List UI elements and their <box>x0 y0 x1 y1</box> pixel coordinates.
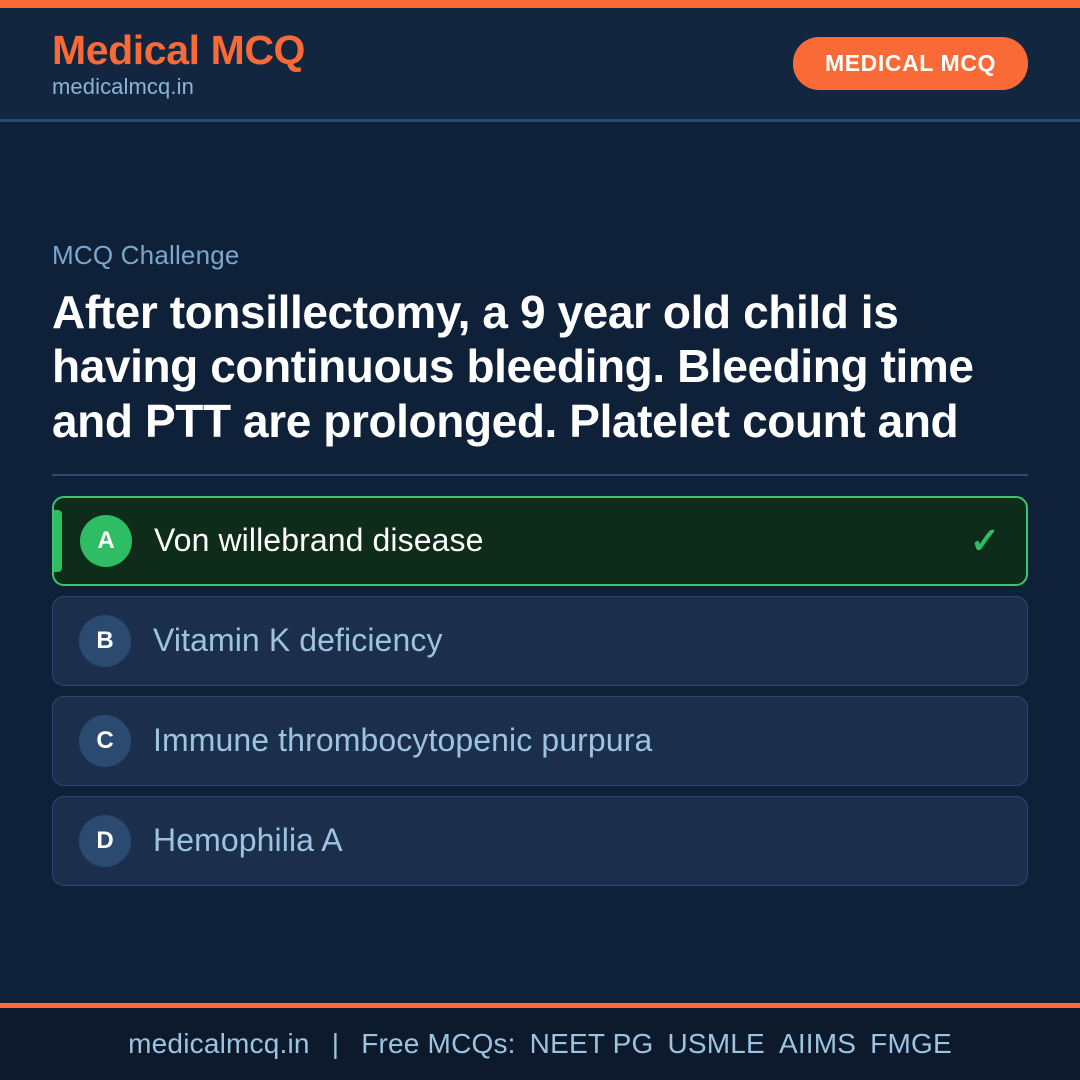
top-accent-bar <box>0 0 1080 8</box>
footer-exam-aiims: AIIMS <box>779 1028 856 1060</box>
footer: medicalmcq.in | Free MCQs: NEET PG USMLE… <box>0 1008 1080 1080</box>
footer-text: medicalmcq.in | Free MCQs: NEET PG USMLE… <box>128 1028 952 1060</box>
correct-accent-bar <box>54 510 62 572</box>
option-letter-badge-a: A <box>80 515 132 567</box>
brand-block: Medical MCQ medicalmcq.in <box>52 28 305 100</box>
question-divider <box>52 474 1028 476</box>
kicker-label: MCQ Challenge <box>52 240 1028 271</box>
option-letter-badge-b: B <box>79 615 131 667</box>
check-icon: ✓ <box>970 523 1000 559</box>
option-label-a: Von willebrand disease <box>154 523 956 558</box>
option-letter-badge-c: C <box>79 715 131 767</box>
footer-exam-usmle: USMLE <box>667 1028 764 1060</box>
option-row-d[interactable]: D Hemophilia A <box>52 796 1028 886</box>
option-label-b: Vitamin K deficiency <box>153 623 1001 658</box>
mcq-card: Medical MCQ medicalmcq.in MEDICAL MCQ MC… <box>0 0 1080 1080</box>
main-content: MCQ Challenge After tonsillectomy, a 9 y… <box>0 122 1080 1003</box>
footer-label: Free MCQs: <box>361 1028 515 1060</box>
footer-site: medicalmcq.in <box>128 1028 310 1060</box>
header: Medical MCQ medicalmcq.in MEDICAL MCQ <box>0 8 1080 122</box>
brand-title: Medical MCQ <box>52 28 305 72</box>
option-row-c[interactable]: C Immune thrombocytopenic purpura <box>52 696 1028 786</box>
question-text: After tonsillectomy, a 9 year old child … <box>52 285 1028 448</box>
option-label-c: Immune thrombocytopenic purpura <box>153 723 1001 758</box>
option-letter-badge-d: D <box>79 815 131 867</box>
option-row-a[interactable]: A Von willebrand disease ✓ <box>52 496 1028 586</box>
option-label-d: Hemophilia A <box>153 823 1001 858</box>
footer-separator: | <box>332 1028 339 1060</box>
brand-subtitle: medicalmcq.in <box>52 74 305 99</box>
header-badge: MEDICAL MCQ <box>793 37 1028 90</box>
footer-exam-fmge: FMGE <box>870 1028 952 1060</box>
option-row-b[interactable]: B Vitamin K deficiency <box>52 596 1028 686</box>
options-list: A Von willebrand disease ✓ B Vitamin K d… <box>52 496 1028 886</box>
footer-exam-neetpg: NEET PG <box>530 1028 654 1060</box>
